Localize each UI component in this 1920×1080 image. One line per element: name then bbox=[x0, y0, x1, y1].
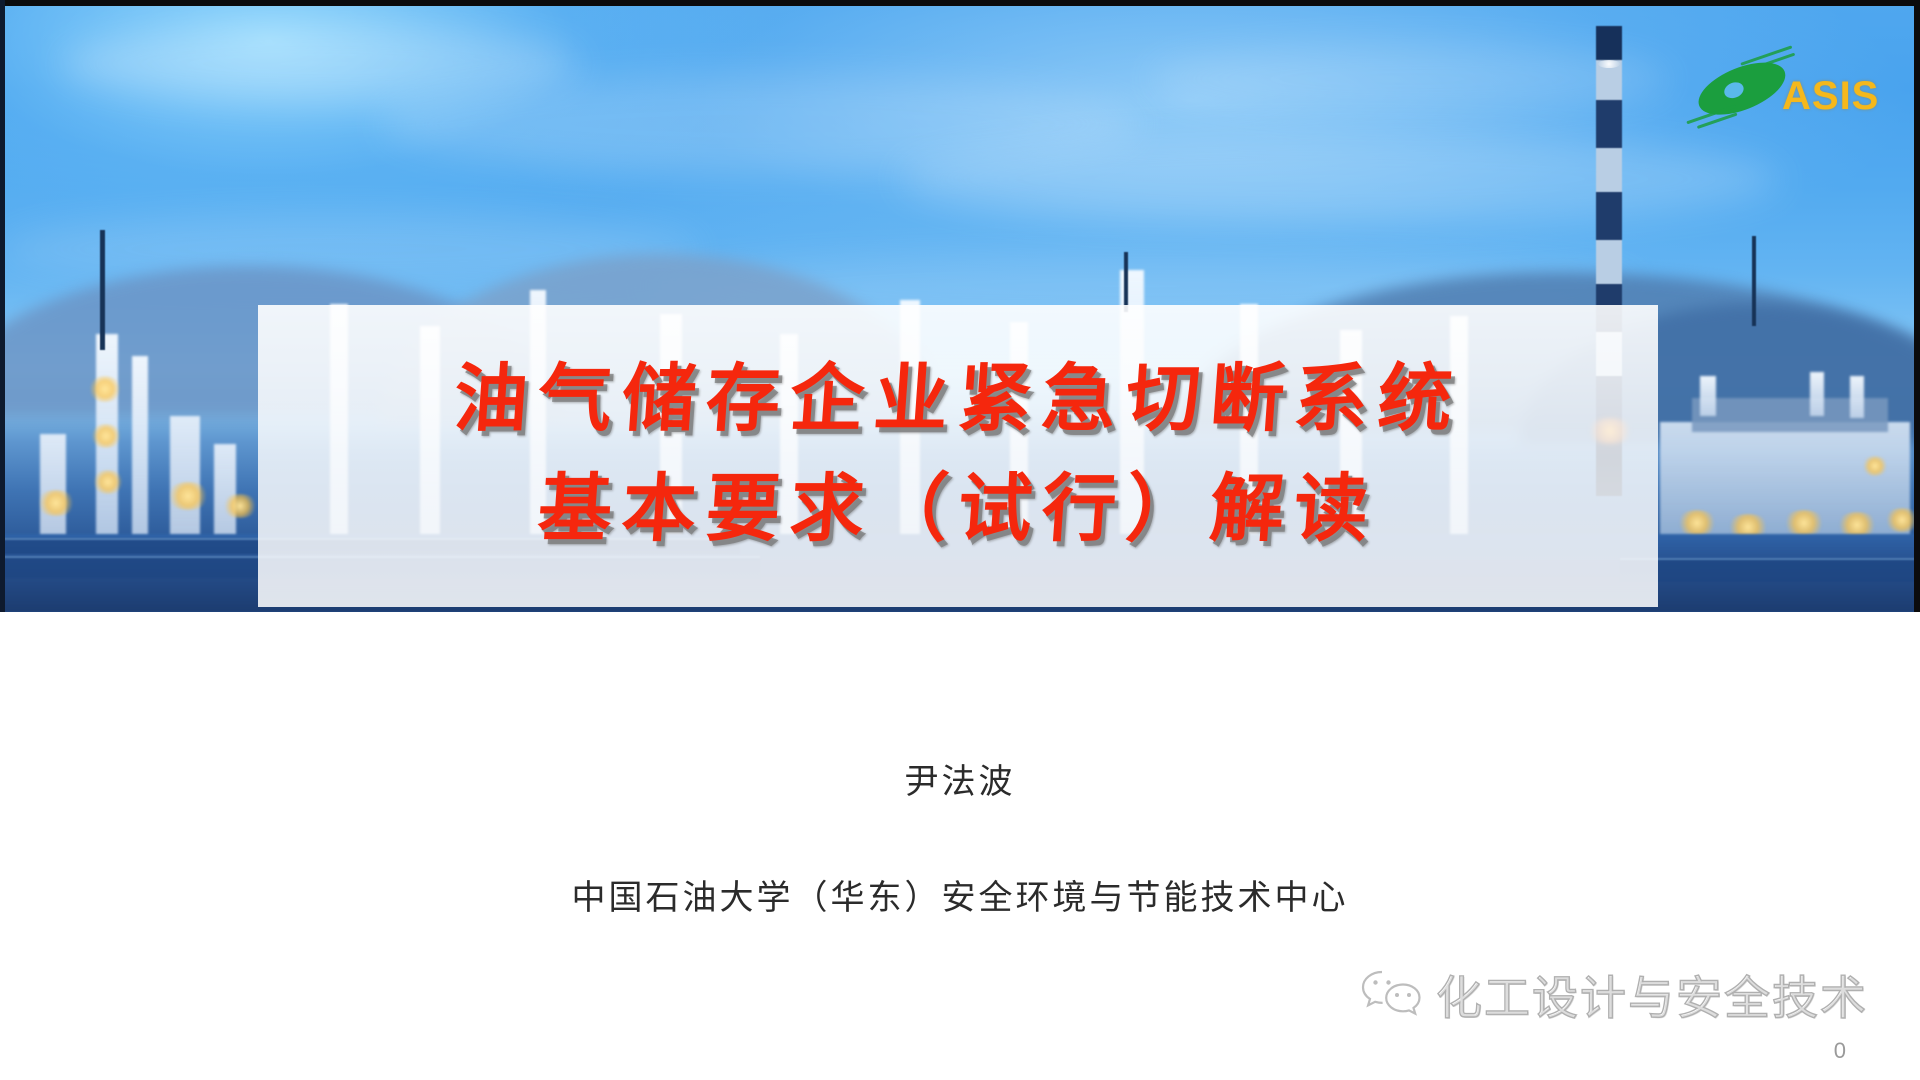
cloud-streak bbox=[1150, 44, 1670, 114]
slide-top-border bbox=[0, 0, 1920, 6]
antenna-mast bbox=[1752, 236, 1756, 326]
pipeline bbox=[1620, 558, 1920, 582]
antenna-mast bbox=[100, 230, 105, 350]
watermark-text: 化工设计与安全技术 bbox=[1436, 962, 1868, 1028]
slide-title-line-1: 油气储存企业紧急切断系统 bbox=[451, 363, 1464, 437]
refinery-tower bbox=[132, 356, 148, 544]
refinery-crane bbox=[1700, 376, 1716, 416]
refinery-crane bbox=[1810, 372, 1824, 416]
author-name: 尹法波 bbox=[0, 754, 1920, 803]
cloud-streak bbox=[900, 134, 1780, 224]
industrial-light bbox=[1862, 456, 1888, 476]
refinery-column bbox=[170, 416, 200, 544]
antenna-mast bbox=[1124, 252, 1128, 312]
presentation-slide: ASIS 油气储存企业紧急切断系统 基本要求（试行）解读 尹法波 中国石油大学（… bbox=[0, 0, 1920, 1080]
author-affiliation: 中国石油大学（华东）安全环境与节能技术中心 bbox=[0, 870, 1920, 919]
slide-title-line-2: 基本要求（试行）解读 bbox=[535, 473, 1380, 547]
industrial-light bbox=[222, 494, 258, 518]
refinery-column bbox=[40, 434, 66, 544]
industrial-light bbox=[1782, 510, 1826, 536]
logo-text: ASIS bbox=[1782, 74, 1879, 119]
industrial-light bbox=[90, 424, 122, 448]
smokestack-beacon-light bbox=[1598, 60, 1620, 68]
industrial-light bbox=[88, 376, 122, 402]
wechat-icon bbox=[1360, 968, 1422, 1022]
refinery-crane bbox=[1850, 376, 1864, 418]
slide-left-border bbox=[0, 0, 5, 612]
industrial-light bbox=[166, 482, 210, 510]
industrial-light bbox=[92, 470, 124, 494]
industrial-light bbox=[36, 490, 76, 516]
asis-logo: ASIS bbox=[1678, 52, 1878, 130]
slide-right-border bbox=[1914, 0, 1920, 612]
title-banner: 油气储存企业紧急切断系统 基本要求（试行）解读 bbox=[258, 305, 1658, 607]
page-number: 0 bbox=[1834, 1038, 1846, 1064]
wechat-watermark: 化工设计与安全技术 bbox=[1360, 962, 1868, 1028]
industrial-light bbox=[1676, 510, 1718, 536]
